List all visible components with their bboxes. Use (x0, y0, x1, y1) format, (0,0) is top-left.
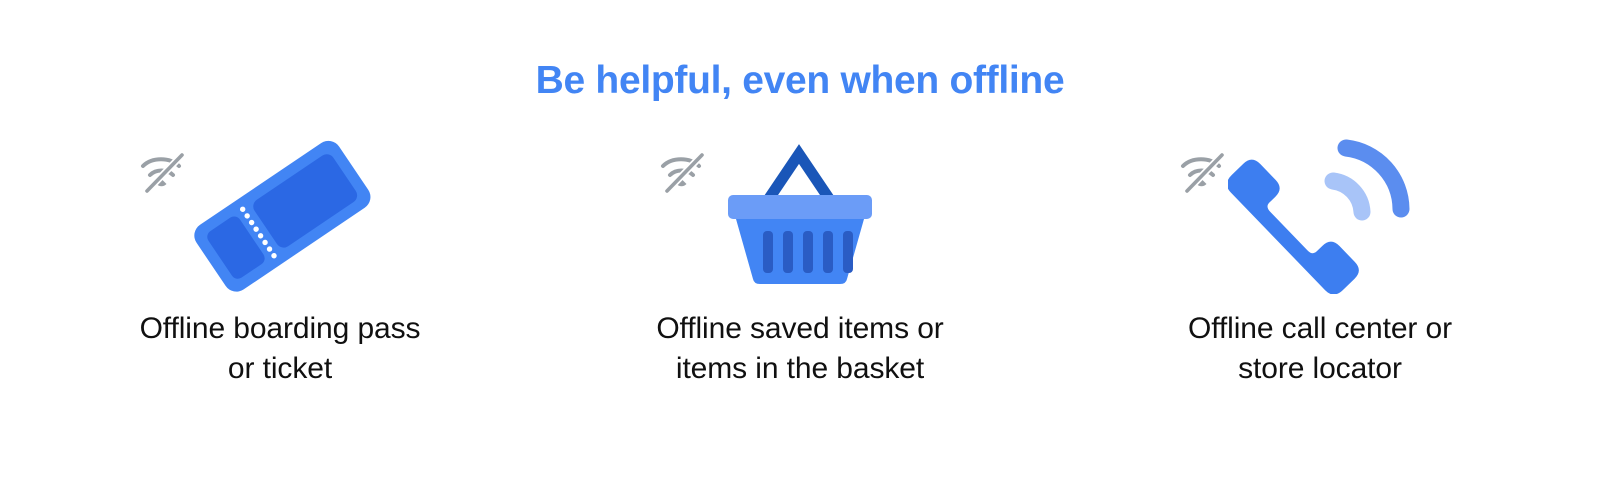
feature-columns: Offline boarding pass or ticket (0, 130, 1600, 389)
caption-line-1: Offline saved items or (656, 309, 943, 349)
phone-call-icon (1228, 136, 1413, 294)
wifi-off-icon (1176, 148, 1234, 200)
icon-area-phone (1170, 130, 1470, 295)
caption-line-1: Offline boarding pass (140, 309, 421, 349)
feature-column-boarding-pass: Offline boarding pass or ticket (40, 130, 520, 389)
page-title: Be helpful, even when offline (0, 56, 1600, 106)
feature-column-basket: Offline saved items or items in the bask… (560, 130, 1040, 389)
feature-column-call-center: Offline call center or store locator (1080, 130, 1560, 389)
caption-line-2: store locator (1188, 349, 1452, 389)
offline-features-banner: Be helpful, even when offline (0, 0, 1600, 485)
icon-area-boarding-pass (130, 130, 430, 295)
caption-boarding-pass: Offline boarding pass or ticket (140, 309, 421, 389)
caption-line-1: Offline call center or (1188, 309, 1452, 349)
caption-line-2: items in the basket (656, 349, 943, 389)
caption-basket: Offline saved items or items in the bask… (656, 309, 943, 389)
icon-area-basket (650, 130, 950, 295)
caption-call-center: Offline call center or store locator (1188, 309, 1452, 389)
shopping-basket-icon (706, 138, 896, 293)
boarding-pass-ticket-icon (166, 136, 396, 296)
caption-line-2: or ticket (140, 349, 421, 389)
